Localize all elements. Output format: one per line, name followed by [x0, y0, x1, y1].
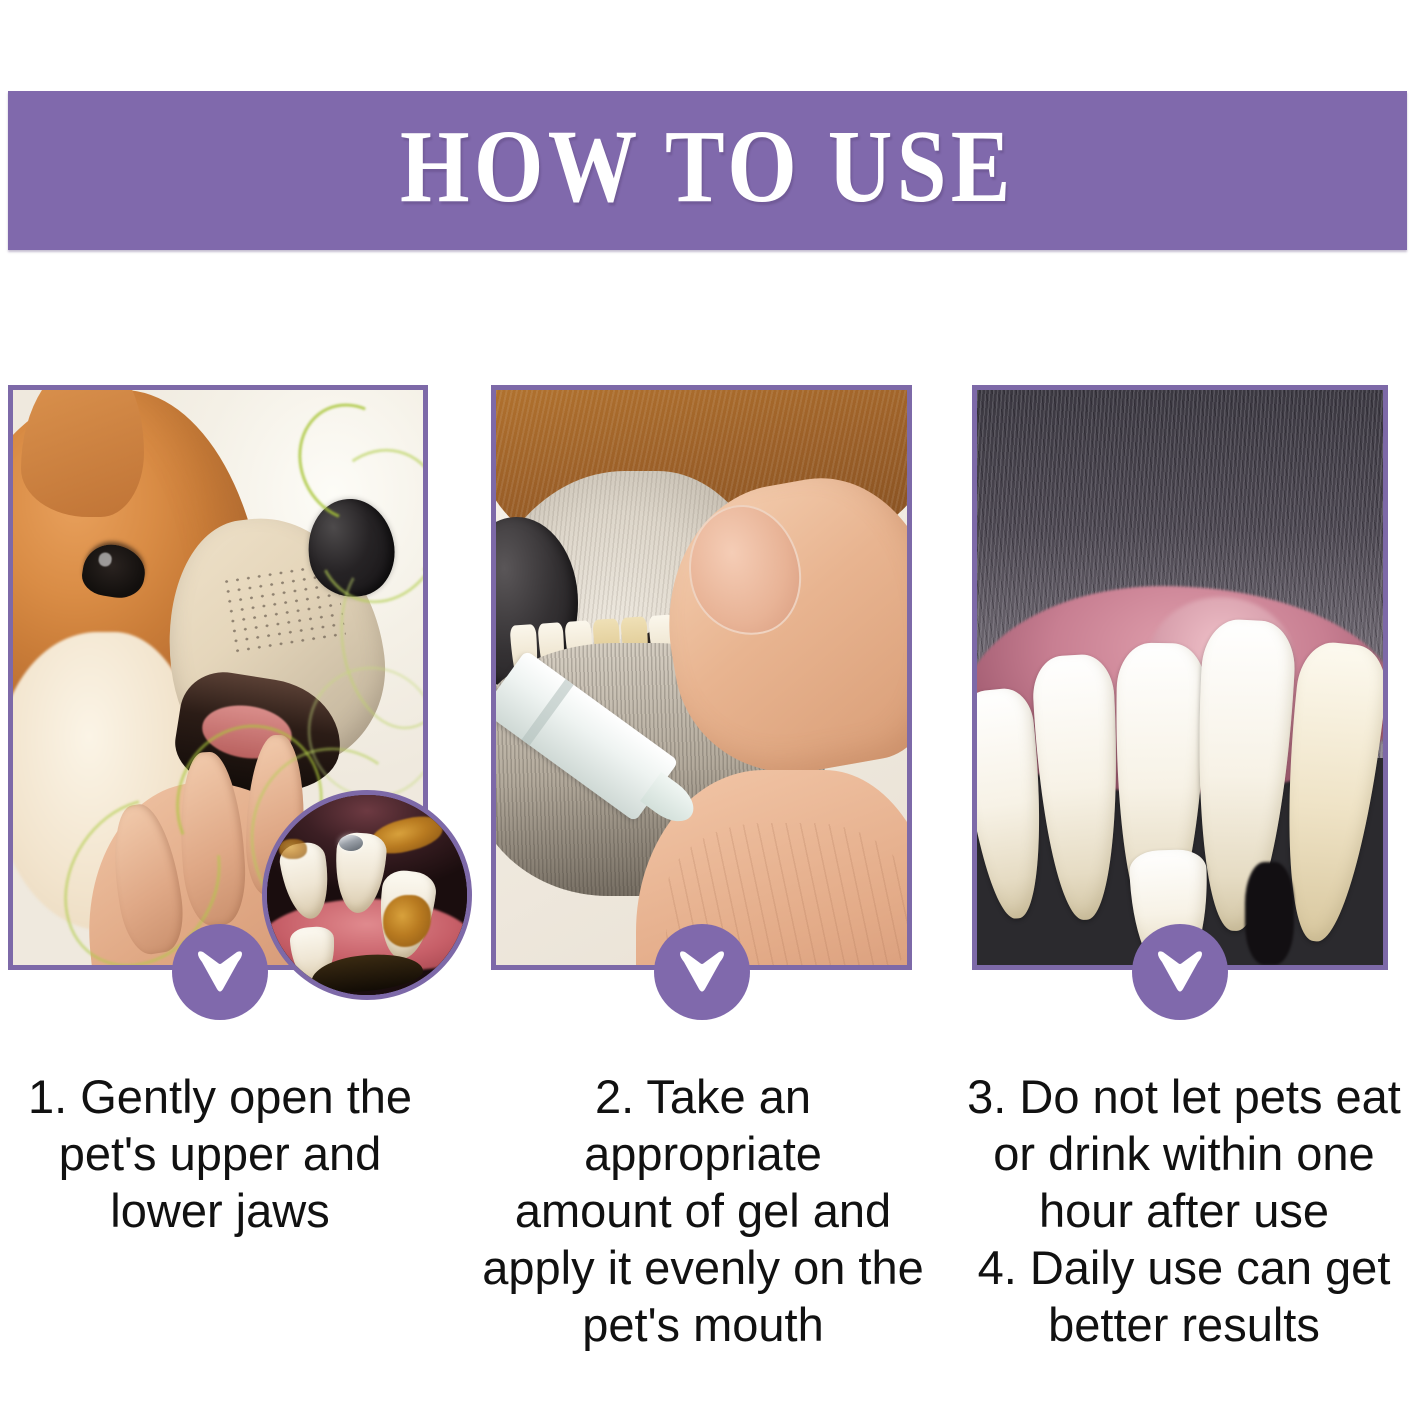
caption-line: 1. Gently open the	[10, 1068, 430, 1125]
step-photo-panel-3	[972, 385, 1388, 970]
step-caption-3: 3. Do not let pets eat or drink within o…	[960, 1068, 1408, 1353]
chevron-down-icon	[676, 948, 728, 996]
caption-line: 2. Take an appropriate	[478, 1068, 928, 1182]
step-badge-3	[1132, 924, 1228, 1020]
chevron-down-icon	[1154, 948, 1206, 996]
chevron-down-icon	[194, 948, 246, 996]
caption-line: apply it evenly on the	[478, 1239, 928, 1296]
header-banner: HOW TO USE	[8, 91, 1407, 250]
tooth-gap-shadow	[1245, 862, 1294, 966]
caption-line: hour after use	[960, 1182, 1408, 1239]
caption-line: 4. Daily use can get	[960, 1239, 1408, 1296]
pen-band	[522, 679, 574, 745]
steps-gallery	[0, 385, 1415, 975]
caption-line: lower jaws	[10, 1182, 430, 1239]
dental-probe-tip-icon	[339, 835, 363, 851]
step-photo-3	[977, 390, 1383, 965]
step-caption-2: 2. Take an appropriate amount of gel and…	[478, 1068, 928, 1353]
step-badge-1	[172, 924, 268, 1020]
tartar-deposit	[279, 839, 307, 859]
tartar-closeup-inset	[262, 790, 472, 1000]
step-caption-1: 1. Gently open the pet's upper and lower…	[10, 1068, 430, 1239]
caption-line: better results	[960, 1296, 1408, 1353]
step-badge-2	[654, 924, 750, 1020]
caption-line: pet's upper and	[10, 1125, 430, 1182]
page-title-text: HOW TO USE	[400, 114, 1015, 218]
caption-line: amount of gel and	[478, 1182, 928, 1239]
caption-line: 3. Do not let pets eat	[960, 1068, 1408, 1125]
step-photo-panel-2	[491, 385, 912, 970]
dog-ear-shape	[21, 390, 144, 517]
caption-line: or drink within one	[960, 1125, 1408, 1182]
page-title: HOW TO USE	[8, 116, 1407, 220]
step-photo-2	[496, 390, 907, 965]
caption-line: pet's mouth	[478, 1296, 928, 1353]
